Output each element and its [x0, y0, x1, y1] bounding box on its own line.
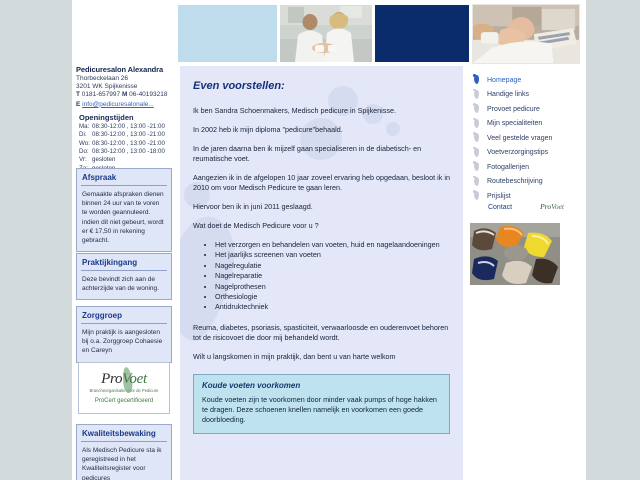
provoet-mini-voet: Voet — [551, 202, 564, 211]
sidebar-box-title: Zorggroep — [77, 307, 171, 323]
footprint-toe — [473, 118, 476, 121]
footprint-icon — [470, 118, 484, 130]
provoet-word-pro: Pro — [101, 371, 122, 387]
nav-item-label: Routebeschrijving — [484, 178, 543, 185]
nav-item-label: Mijn specialiteiten — [484, 120, 542, 127]
email-link[interactable]: info@pedicuresalonale... — [82, 101, 154, 108]
footprint-sole — [474, 119, 479, 128]
content-paragraph: In de jaren daarna ben ik mijzelf gaan s… — [193, 144, 450, 164]
service-list-item: Nagelregulatie — [215, 261, 450, 271]
nav-item-label: Veel gestelde vragen — [484, 135, 552, 142]
footprint-icon — [470, 161, 484, 173]
footprint-toe — [473, 89, 476, 92]
nav-item-label: Voetverzorgingstips — [484, 149, 548, 156]
tip-box-title: Koude voeten voorkomen — [202, 381, 441, 390]
content-paragraph: Wilt u langskomen in mijn praktijk, dan … — [193, 352, 450, 362]
service-list-item: Nagelreparatie — [215, 271, 450, 281]
nav-item-homepage[interactable]: Homepage — [466, 73, 586, 88]
provoet-mini-pro: Pro — [540, 202, 551, 211]
pedicure-treatment-illustration — [280, 5, 372, 62]
sidebar-box-body: Deze bevindt zich aan de achterzijde van… — [77, 271, 171, 299]
hours-time: 08:30-12:00 , 13:00 -18:00 — [92, 148, 165, 155]
content-paragraph: Hiervoor ben ik in juni 2011 geslaagd. — [193, 202, 450, 212]
header-light-block — [177, 5, 277, 62]
business-name: Pedicuresalon Alexandra — [76, 64, 174, 75]
hours-day: Di: — [79, 131, 92, 139]
footprint-sole — [474, 90, 479, 99]
opening-hours-list: Ma:08:30-12:00 , 13:00 -21:00Di:08:30-12… — [76, 123, 174, 173]
sidebar-box-zorggroep: Zorggroep Mijn praktijk is aangesloten b… — [76, 306, 172, 363]
foot-treatment-illustration — [473, 5, 579, 63]
nav-item-mijn-specialiteiten[interactable]: Mijn specialiteiten — [466, 117, 586, 132]
header-pedicure-photo — [280, 5, 372, 62]
service-list-item: Het verzorgen en behandelen van voeten, … — [215, 240, 450, 250]
content-nav-separator — [463, 66, 464, 480]
service-list-item: Antidruktechniek — [215, 302, 450, 312]
service-list-item: Het jaarlijks screenen van voeten — [215, 250, 450, 260]
provoet-logo-badge: ProVoet Brancheorganisatie voor de Pedic… — [78, 362, 170, 414]
footprint-icon — [470, 147, 484, 159]
content-paragraph: Aangezien ik in de afgelopen 10 jaar zov… — [193, 173, 450, 193]
content-paragraph: Reuma, diabetes, psoriasis, spasticiteit… — [193, 323, 450, 343]
email-label: E — [76, 101, 80, 108]
sidebar-box-afspraak: Afspraak Gemaakte afspraken dienen binne… — [76, 168, 172, 252]
page-root: Pedicuresalon Alexandra Thorbeckelaan 26… — [0, 0, 640, 480]
sidebar-box-body: Als Medisch Pedicure sta ik geregistreed… — [77, 442, 171, 480]
opening-hours-row: Do:08:30-12:00 , 13:00 -18:00 — [76, 148, 174, 156]
nav-item-voetverzorgingstips[interactable]: Voetverzorgingstips — [466, 146, 586, 161]
header-navy-block — [375, 5, 469, 62]
left-sidebar: Pedicuresalon Alexandra Thorbeckelaan 26… — [72, 0, 178, 480]
nav-item-handige-links[interactable]: Handige links — [466, 88, 586, 103]
header-foot-treatment-photo — [472, 4, 580, 64]
sidebar-box-body: Gemaakte afspraken dienen binnen 24 uur … — [77, 186, 171, 251]
services-list: Het verzorgen en behandelen van voeten, … — [193, 240, 450, 313]
phone-landline: 0181-657997 — [82, 91, 120, 98]
closing-paragraphs: Reuma, diabetes, psoriasis, spasticiteit… — [193, 323, 450, 362]
intro-paragraphs: Ik ben Sandra Schoenmakers, Medisch pedi… — [193, 106, 450, 231]
footprint-icon — [470, 132, 484, 144]
tip-box-body: Koude voeten zijn te voorkomen door mind… — [202, 395, 441, 425]
hours-day: Ma: — [79, 123, 92, 131]
sidebar-box-kwaliteitsbewaking: Kwaliteitsbewaking Als Medisch Pedicure … — [76, 424, 172, 480]
sandals-photo — [470, 223, 560, 285]
address-line-2: 3201 WK Spijkenisse — [76, 83, 174, 91]
nav-item-veel-gestelde-vragen[interactable]: Veel gestelde vragen — [466, 131, 586, 146]
provoet-word-voet: Voet — [122, 371, 147, 387]
sidebar-box-praktijkingang: Praktijkingang Deze bevindt zich aan de … — [76, 253, 172, 300]
nav-item-provoet-pedicure[interactable]: Provoet pedicure — [466, 102, 586, 117]
content-paragraph: Ik ben Sandra Schoenmakers, Medisch pedi… — [193, 106, 450, 116]
footprint-toe — [473, 74, 476, 77]
right-page-margin — [586, 0, 640, 480]
phone-mobile: 06-40193218 — [129, 91, 167, 98]
hours-day: Vr: — [79, 156, 92, 164]
nav-item-label: Provoet pedicure — [484, 106, 540, 113]
main-content: Even voorstellen: Ik ben Sandra Schoenma… — [180, 66, 463, 480]
contact-link[interactable]: Contact — [488, 204, 512, 211]
phone-label-t: T — [76, 91, 80, 98]
provoet-wordmark: ProVoet — [101, 372, 147, 387]
content-inner: Even voorstellen: Ik ben Sandra Schoenma… — [180, 66, 463, 434]
footprint-toe — [473, 147, 476, 150]
phone-line: T 0181-657997 M 06-40193218 — [76, 91, 174, 99]
hours-time: gesloten — [92, 156, 115, 163]
footprint-toe — [473, 190, 476, 193]
page-title: Even voorstellen: — [193, 80, 450, 92]
nav-item-label: Handige links — [484, 91, 529, 98]
phone-label-m: M — [122, 91, 127, 98]
footprint-toe — [473, 132, 476, 135]
sidebar-box-title: Afspraak — [77, 169, 171, 185]
provoet-mini-logo[interactable]: ProVoet — [540, 203, 564, 211]
nav-item-fotogallerijen[interactable]: Fotogallerijen — [466, 160, 586, 175]
hours-day: Do: — [79, 148, 92, 156]
footprint-toe — [473, 103, 476, 106]
opening-hours-row: Di:08:30-12:00 , 13:00 -21:00 — [76, 131, 174, 139]
content-paragraph: Wat doet de Medisch Pedicure voor u ? — [193, 221, 450, 231]
tip-box: Koude voeten voorkomen Koude voeten zijn… — [193, 374, 450, 434]
sidebar-box-title: Kwaliteitsbewaking — [77, 425, 171, 441]
nav-item-label: Prijslijst — [484, 193, 511, 200]
contact-row: Contact ProVoet — [466, 203, 586, 211]
left-page-margin — [0, 0, 72, 480]
sidebar-box-body: Mijn praktijk is aangesloten bij o.a. Zo… — [77, 324, 171, 362]
footprint-toe — [473, 161, 476, 164]
nav-menu: HomepageHandige linksProvoet pedicureMij… — [466, 73, 586, 204]
content-paragraph: In 2002 heb ik mijn diploma "pedicure"be… — [193, 125, 450, 135]
opening-hours-row: Wo:08:30-12:00 , 13:00 -21:00 — [76, 140, 174, 148]
provoet-certification: ProCert gecertificeerd — [95, 398, 153, 404]
hours-time: 08:30-12:00 , 13:00 -21:00 — [92, 140, 165, 147]
opening-hours-row: Ma:08:30-12:00 , 13:00 -21:00 — [76, 123, 174, 131]
sidebar-box-title: Praktijkingang — [77, 254, 171, 270]
footprint-toe — [473, 176, 476, 179]
hours-time: 08:30-12:00 , 13:00 -21:00 — [92, 131, 165, 138]
opening-hours-row: Vr:gesloten — [76, 156, 174, 164]
footprint-icon — [470, 89, 484, 101]
footprint-icon — [470, 74, 484, 86]
business-contact-block: Pedicuresalon Alexandra Thorbeckelaan 26… — [76, 64, 174, 173]
nav-item-label: Homepage — [484, 77, 521, 84]
footprint-icon — [470, 176, 484, 188]
nav-item-routebeschrijving[interactable]: Routebeschrijving — [466, 175, 586, 190]
sandals-illustration — [470, 223, 560, 285]
hours-time: 08:30-12:00 , 13:00 -21:00 — [92, 123, 165, 130]
footprint-icon — [470, 190, 484, 202]
service-list-item: Orthesiologie — [215, 292, 450, 302]
hours-day: Wo: — [79, 140, 92, 148]
address-line-1: Thorbeckelaan 26 — [76, 75, 174, 83]
email-line: E info@pedicuresalonale... — [76, 100, 174, 109]
opening-hours-title: Openingstijden — [76, 113, 174, 122]
footprint-sole — [474, 177, 479, 186]
footprint-icon — [470, 103, 484, 115]
service-list-item: Nagelprothesen — [215, 282, 450, 292]
nav-item-prijslijst[interactable]: Prijslijst — [466, 189, 586, 204]
footprint-sole — [474, 148, 479, 157]
right-navigation: HomepageHandige linksProvoet pedicureMij… — [466, 66, 586, 480]
nav-item-label: Fotogallerijen — [484, 164, 529, 171]
